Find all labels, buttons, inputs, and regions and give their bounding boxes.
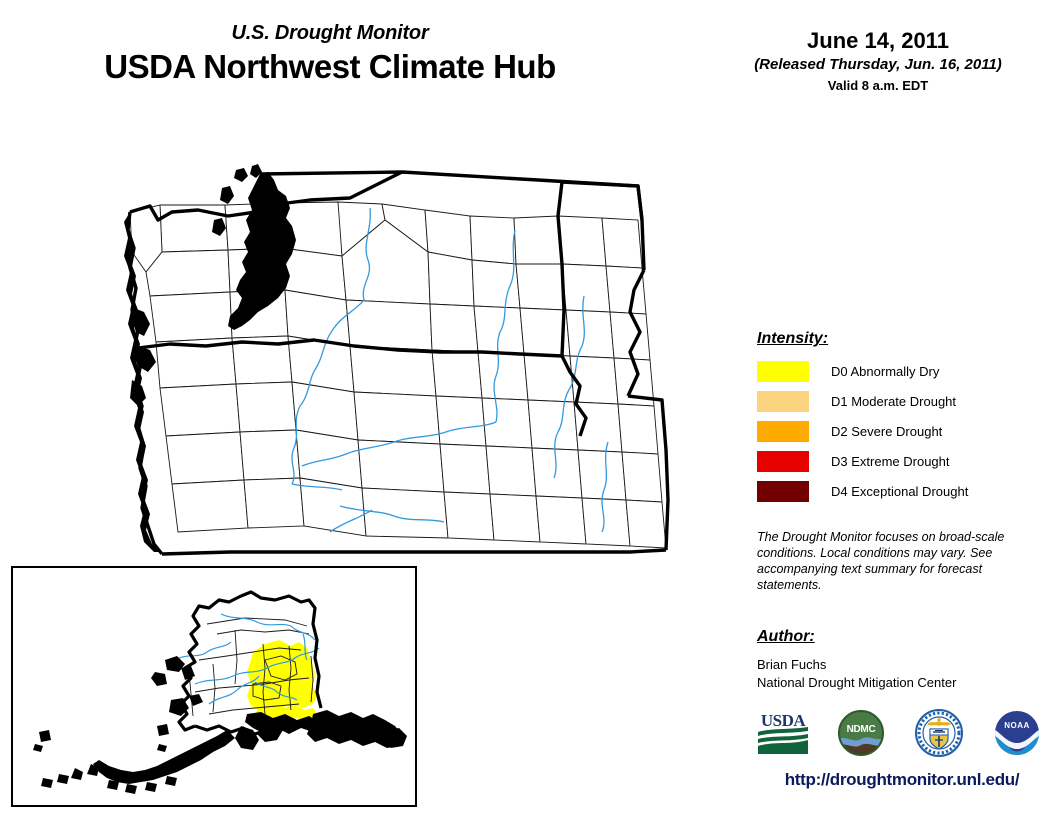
legend-title: Intensity:: [757, 330, 1027, 348]
logo-row: USDA NDMC: [755, 706, 1045, 760]
legend-label-d0: D0 Abnormally Dry: [831, 365, 939, 378]
ndmc-logo: NDMC: [833, 707, 889, 759]
legend-item-d3: D3 Extreme Drought: [757, 450, 1027, 472]
alaska-inset-map[interactable]: [11, 566, 417, 807]
author-block: Author: Brian Fuchs National Drought Mit…: [757, 628, 1027, 691]
valid-time: Valid 8 a.m. EDT: [700, 78, 1056, 94]
legend-swatch-d2: [757, 421, 809, 442]
released-date: (Released Thursday, Jun. 16, 2011): [700, 56, 1056, 75]
header-left: U.S. Drought Monitor USDA Northwest Clim…: [0, 22, 660, 86]
disclaimer-text: The Drought Monitor focuses on broad-sca…: [757, 529, 1009, 593]
header-right: June 14, 2011 (Released Thursday, Jun. 1…: [700, 28, 1056, 94]
legend-item-d0: D0 Abnormally Dry: [757, 360, 1027, 382]
author-title: Author:: [757, 628, 1027, 646]
legend-item-d4: D4 Exceptional Drought: [757, 480, 1027, 502]
legend-label-d1: D1 Moderate Drought: [831, 395, 956, 408]
svg-text:USDA: USDA: [761, 711, 807, 730]
noaa-logo: NOAA: [989, 707, 1045, 759]
svg-text:NDMC: NDMC: [847, 724, 876, 735]
legend-swatch-d4: [757, 481, 809, 502]
legend-label-d4: D4 Exceptional Drought: [831, 485, 968, 498]
legend: Intensity: D0 Abnormally Dry D1 Moderate…: [757, 330, 1027, 510]
legend-item-d1: D1 Moderate Drought: [757, 390, 1027, 412]
legend-item-d2: D2 Severe Drought: [757, 420, 1027, 442]
map-counties-layer: [130, 202, 666, 548]
legend-label-d3: D3 Extreme Drought: [831, 455, 950, 468]
drought-monitor-subtitle: U.S. Drought Monitor: [0, 22, 660, 44]
author-organization: National Drought Mitigation Center: [757, 674, 1027, 692]
svg-text:NOAA: NOAA: [1004, 721, 1030, 730]
page-title: USDA Northwest Climate Hub: [0, 48, 660, 86]
usda-logo: USDA: [755, 707, 811, 759]
valid-date: June 14, 2011: [700, 28, 1056, 53]
legend-label-d2: D2 Severe Drought: [831, 425, 942, 438]
legend-swatch-d3: [757, 451, 809, 472]
legend-swatch-d1: [757, 391, 809, 412]
usdc-noaa-seal-logo: [911, 707, 967, 759]
author-name: Brian Fuchs: [757, 656, 1027, 674]
site-url[interactable]: http://droughtmonitor.unl.edu/: [757, 770, 1047, 790]
legend-swatch-d0: [757, 361, 809, 382]
main-map-pacific-northwest[interactable]: [110, 160, 680, 560]
